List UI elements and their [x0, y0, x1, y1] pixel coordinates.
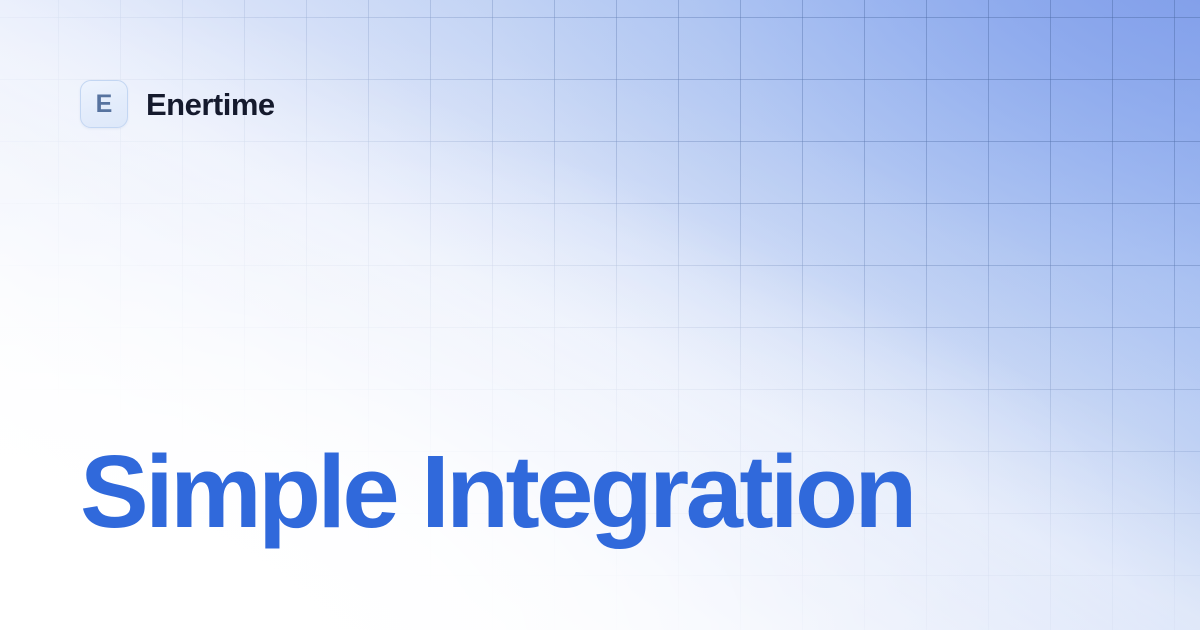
letter-badge-icon: E — [80, 80, 128, 128]
content-layer: E Enertime Simple Integration — [0, 0, 1200, 630]
brand-lockup: E Enertime — [80, 80, 275, 128]
brand-badge-letter: E — [96, 92, 113, 117]
page-title: Simple Integration — [80, 440, 914, 543]
brand-name: Enertime — [146, 89, 275, 120]
og-card: E Enertime Simple Integration — [0, 0, 1200, 630]
